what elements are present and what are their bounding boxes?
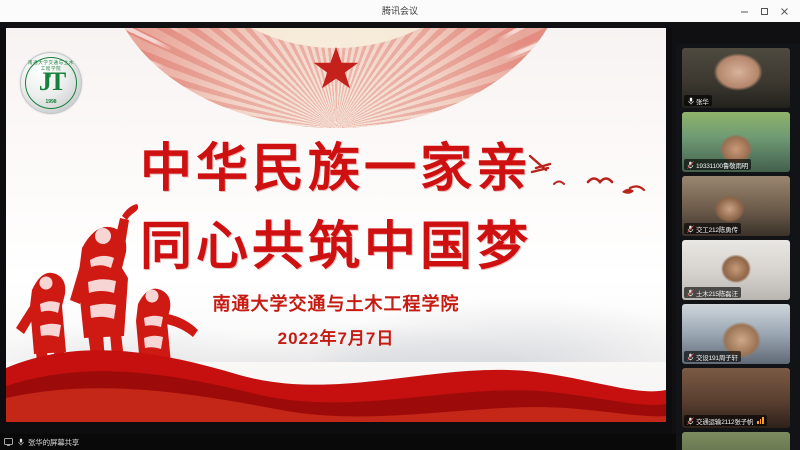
participant-nametag: 土木215陈磊汪 [684,287,741,298]
window-controls [734,0,794,22]
participant-nametag: 19331100鲁敬雨明 [684,159,751,170]
participant-name: 交设191周子轩 [696,352,738,362]
participant-tile[interactable]: 交通运输2112张子帆 [682,368,790,428]
mic-icon [16,438,25,447]
presentation-slide: 南通大学交通与土木工程学院 JT 1998 中 [6,28,666,432]
participant-nametag: 交通运输2112张子帆 [684,415,767,426]
meeting-stage: 南通大学交通与土木工程学院 JT 1998 中 [0,22,800,450]
participant-name: 交通运输2112张子帆 [696,416,753,426]
participant-tile[interactable]: 19331100鲁敬雨明 [682,112,790,172]
participant-nametag: 交工212陈勇传 [684,223,741,234]
participant-nametag: 张华 [684,95,712,106]
mic-unmuted-icon [687,352,694,361]
screen-share-status-text: 张华的屏幕共享 [28,437,79,448]
window-title: 腾讯会议 [0,0,800,22]
screen-share-icon [4,438,13,447]
university-logo-inner: 南通大学交通与土木工程学院 JT 1998 [25,57,77,109]
maximize-button[interactable] [754,1,774,21]
mic-unmuted-icon [687,224,694,233]
close-button[interactable] [774,1,794,21]
signal-strength-icon [757,417,764,424]
university-logo-year: 1998 [26,99,76,105]
tencent-meeting-window: 腾讯会议 正在共享屏幕 腾讯会议 [0,0,800,450]
mic-unmuted-icon [687,416,694,425]
university-logo: 南通大学交通与土木工程学院 JT 1998 [20,52,82,114]
participant-name: 19331100鲁敬雨明 [696,160,748,170]
participant-tile[interactable]: 张华 [682,48,790,108]
participant-nametag: 交设191周子轩 [684,351,741,362]
mic-unmuted-icon [687,160,694,169]
university-logo-monogram: JT [39,69,63,95]
red-ribbon-decoration [6,302,666,432]
participant-tile[interactable]: 交设191周子轩 [682,304,790,364]
participant-video [682,432,790,450]
screen-share-status-bar: 张华的屏幕共享 [0,434,676,450]
participant-name: 张华 [696,96,709,106]
participant-tile[interactable]: 交工212陈勇传 [682,176,790,236]
shared-screen-area[interactable]: 南通大学交通与土木工程学院 JT 1998 中 [0,28,672,434]
minimize-button[interactable] [734,1,754,21]
mic-muted-icon [687,96,694,105]
title-bar: 腾讯会议 [0,0,800,22]
participant-tile[interactable]: 土木191郑尚星 [682,432,790,450]
participant-name: 交工212陈勇传 [696,224,738,234]
participant-name: 土木215陈磊汪 [696,288,738,298]
mic-unmuted-icon [687,288,694,297]
participant-tile[interactable]: 土木215陈磊汪 [682,240,790,300]
participant-video-rail[interactable]: 张华 19331100鲁敬雨明 交工212陈勇传 [676,44,800,450]
